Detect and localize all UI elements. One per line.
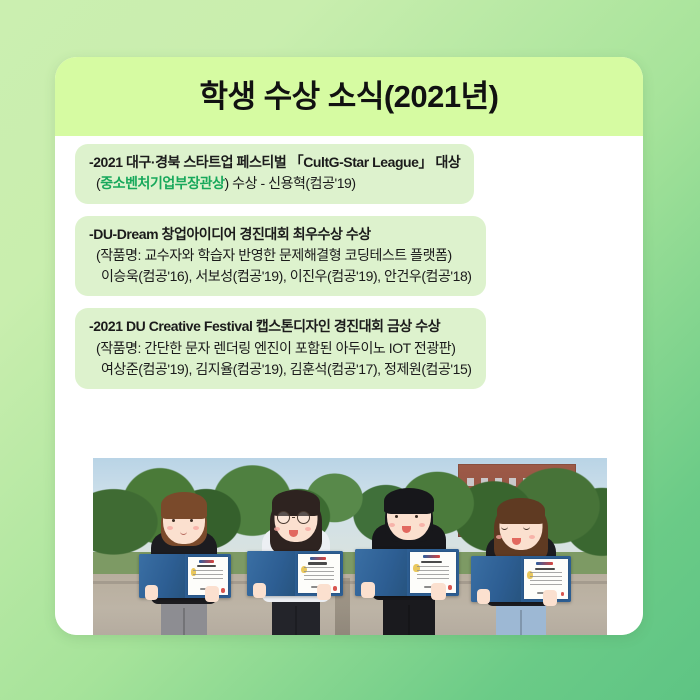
cheek-left: [167, 526, 173, 530]
page-root: 학생 수상 소식(2021년) -2021 대구·경북 스타트업 페스티벌 「C…: [0, 0, 700, 700]
page-title: 학생 수상 소식(2021년): [200, 81, 499, 112]
cheek-left: [274, 527, 280, 531]
announcement-card: 학생 수상 소식(2021년) -2021 대구·경북 스타트업 페스티벌 「C…: [55, 57, 643, 635]
eye-left: [172, 519, 175, 522]
award-item: -DU-Dream 창업아이디어 경진대회 최우수상 수상 (작품명: 교수자와…: [75, 216, 486, 297]
eye-right: [415, 515, 418, 518]
card-header: 학생 수상 소식(2021년): [55, 57, 643, 136]
certificate-body-text: [530, 572, 562, 585]
cheek-right: [529, 535, 535, 539]
award-ceremony-photo: [93, 458, 607, 635]
cheek-left: [389, 523, 395, 527]
certificate-seal: [221, 588, 225, 593]
cheek-left: [496, 535, 502, 539]
award-members: 이승욱(컴공'16), 서보성(컴공'19), 이진우(컴공'19), 안건우(…: [89, 266, 472, 287]
award-title-text: -DU-Dream 창업아이디어 경진대회 최우수상 수상: [89, 226, 371, 242]
person-student-2: [251, 472, 341, 635]
hair: [497, 498, 545, 524]
award-title: -2021 대구·경북 스타트업 페스티벌 「CultG-Star League…: [89, 152, 460, 173]
award-detail: (중소벤처기업부장관상) 수상 - 신용혁(컴공'19): [89, 173, 460, 194]
glasses-lens-right: [297, 511, 310, 524]
cheek-right: [305, 527, 311, 531]
certificate-seal: [333, 586, 337, 591]
certificate-logo: [423, 555, 440, 558]
hand-left: [477, 589, 490, 604]
cheek-right: [419, 523, 425, 527]
award-members-text: 이승욱(컴공'16), 서보성(컴공'19), 이진우(컴공'19), 안건우(…: [101, 268, 472, 284]
certificate-logo: [310, 557, 326, 560]
hand-right: [205, 586, 219, 602]
hand-right: [317, 584, 331, 600]
hair: [161, 492, 207, 519]
card-body: -2021 대구·경북 스타트업 페스티벌 「CultG-Star League…: [55, 136, 643, 635]
hand-left: [253, 583, 266, 598]
eye-left: [395, 515, 398, 518]
certificate-heading: [308, 562, 327, 564]
hand-right: [543, 590, 557, 606]
award-project: (작품명: 간단한 문자 렌더링 엔진이 포함된 아두이노 IOT 전광판): [89, 338, 472, 359]
certificate-heading: [421, 561, 442, 563]
hand-left: [145, 585, 158, 600]
award-project-text: (작품명: 교수자와 학습자 반영한 문제해결형 코딩테스트 플랫폼): [96, 247, 452, 263]
certificate-logo: [536, 562, 553, 565]
award-members-text: 여상준(컴공'19), 김지율(컴공'19), 김훈석(컴공'17), 정제원(…: [101, 361, 472, 377]
hand-left: [361, 582, 375, 598]
certificate-body-text: [417, 566, 450, 580]
glasses-bridge: [292, 517, 295, 519]
eye-right: [190, 519, 193, 522]
certificate-body-text: [304, 567, 334, 580]
hand-right: [431, 583, 446, 600]
person-student-1: [141, 476, 227, 635]
cheek-right: [193, 526, 199, 530]
award-item: -2021 대구·경북 스타트업 페스티벌 「CultG-Star League…: [75, 144, 474, 204]
award-list: -2021 대구·경북 스타트업 페스티벌 「CultG-Star League…: [75, 144, 623, 400]
person-student-4: [475, 480, 567, 635]
person-student-3: [361, 468, 457, 635]
certificate-heading: [197, 565, 216, 567]
certificate-body-text: [193, 570, 222, 583]
award-members: 여상준(컴공'19), 김지율(컴공'19), 김훈석(컴공'17), 정제원(…: [89, 359, 472, 380]
hair: [384, 488, 434, 514]
certificate-logo: [199, 560, 214, 563]
certificate-seal: [448, 585, 452, 590]
award-highlight: 중소벤처기업부장관상: [100, 175, 224, 191]
certificate-seal: [561, 592, 565, 597]
award-title: -DU-Dream 창업아이디어 경진대회 최우수상 수상: [89, 224, 472, 245]
award-recipient: ) 수상 - 신용혁(컴공'19): [225, 175, 356, 191]
award-project: (작품명: 교수자와 학습자 반영한 문제해결형 코딩테스트 플랫폼): [89, 245, 472, 266]
award-title-text: -2021 대구·경북 스타트업 페스티벌 「CultG-Star League…: [89, 154, 460, 170]
award-title-text: -2021 DU Creative Festival 캡스톤디자인 경진대회 금…: [89, 318, 440, 334]
glasses-icon: [277, 511, 310, 524]
award-project-text: (작품명: 간단한 문자 렌더링 엔진이 포함된 아두이노 IOT 전광판): [96, 340, 455, 356]
award-item: -2021 DU Creative Festival 캡스톤디자인 경진대회 금…: [75, 308, 486, 389]
certificate-heading: [535, 568, 555, 570]
award-title: -2021 DU Creative Festival 캡스톤디자인 경진대회 금…: [89, 316, 472, 337]
glasses-lens-left: [277, 511, 290, 524]
